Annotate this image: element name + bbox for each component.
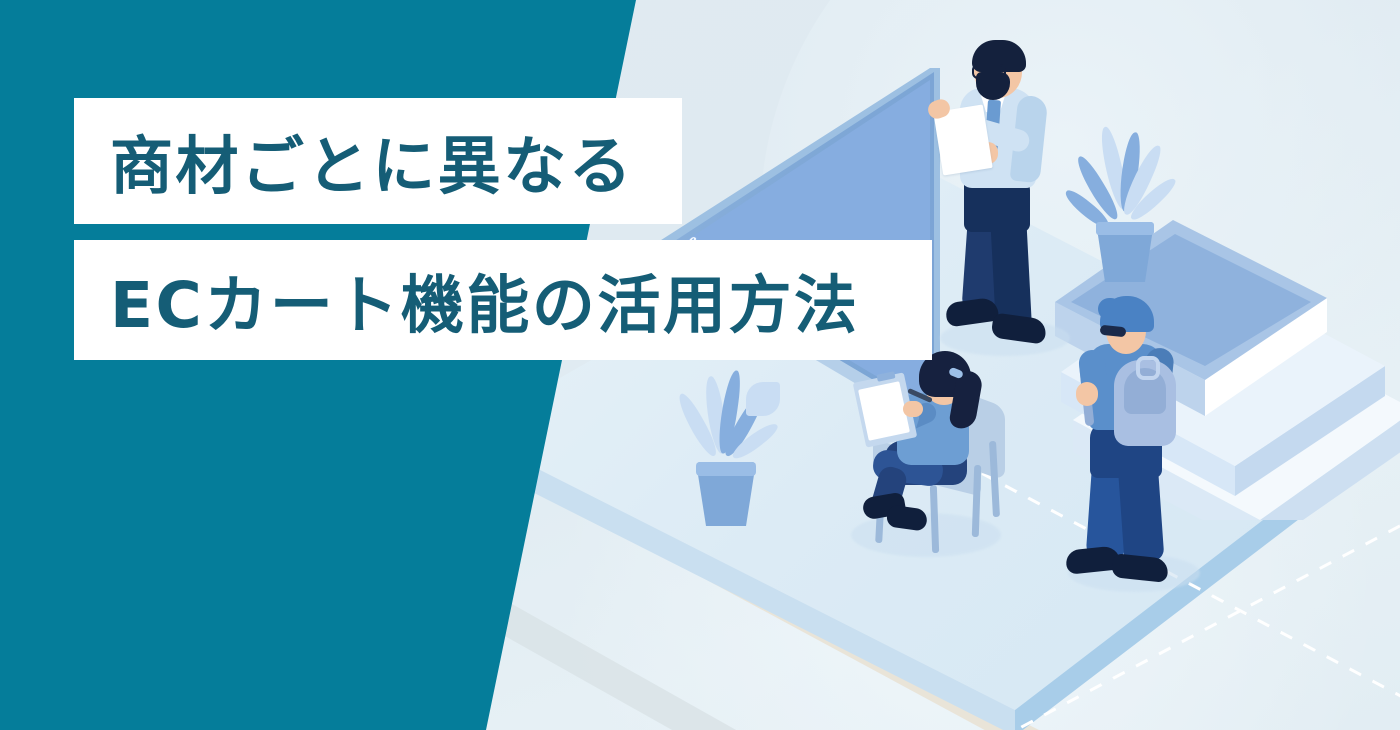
- title-line-1: 商材ごとに異なる: [74, 116, 634, 207]
- plant-flower: [746, 382, 780, 416]
- figure-seated-woman: [845, 345, 1045, 585]
- potted-plant-left: [660, 370, 800, 545]
- figure-student: [1062, 282, 1242, 607]
- teacher-glasses: [972, 64, 1006, 79]
- cap-crown-left: [1098, 298, 1122, 320]
- cap-brim: [1100, 325, 1127, 338]
- chair-leg: [930, 485, 939, 553]
- backpack-handle: [1136, 356, 1160, 380]
- woman-hand: [903, 401, 923, 417]
- title-box-line-2: ECカート機能の活用方法: [74, 240, 932, 360]
- student-hand: [1076, 382, 1098, 406]
- plant-pot-rim: [696, 462, 756, 476]
- banner-canvas: ∫(xd·uy)= ΔS·δ d = ∫(xd·uy) = log₊no(x−g…: [0, 0, 1400, 730]
- title-box-line-1: 商材ごとに異なる: [74, 98, 682, 224]
- title-line-2: ECカート機能の活用方法: [74, 255, 860, 346]
